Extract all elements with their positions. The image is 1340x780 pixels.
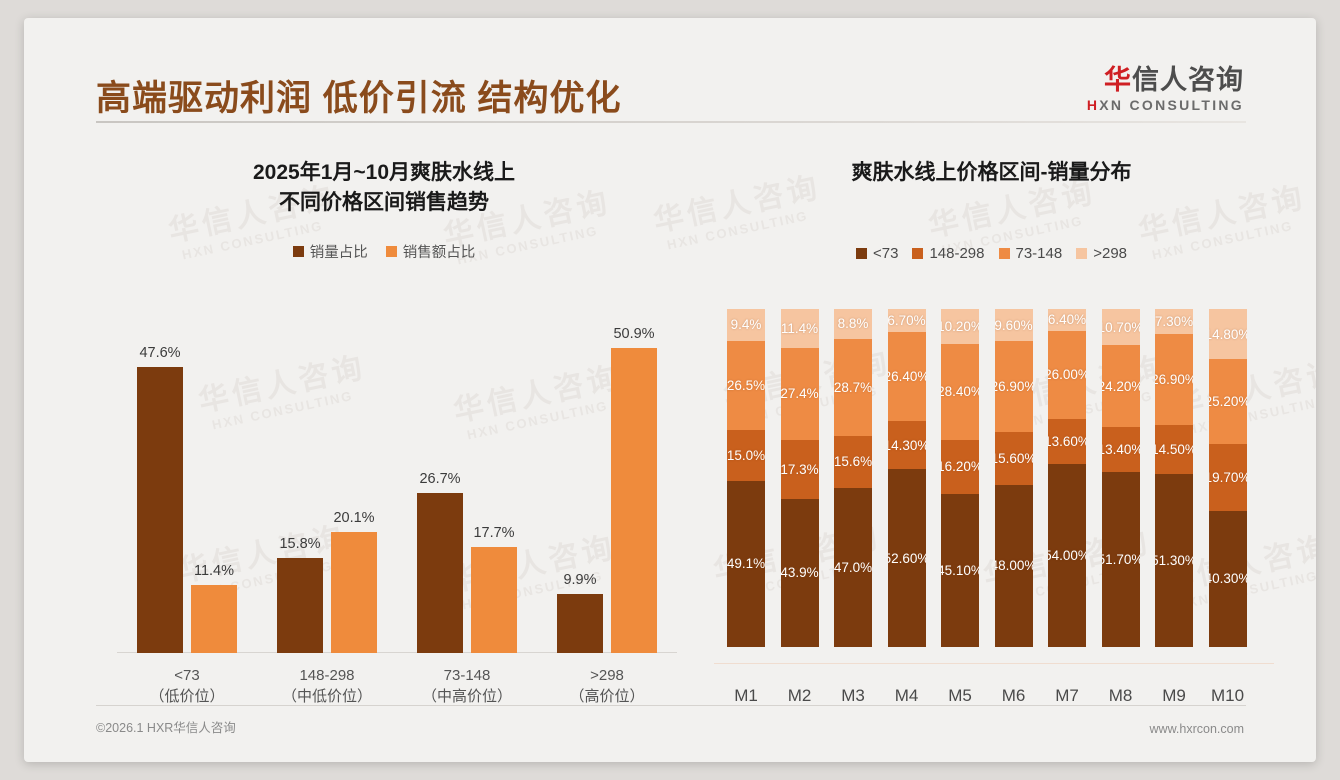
chart-title-line2: 不同价格区间销售趋势 bbox=[69, 188, 699, 218]
segment-value-label: 6.70% bbox=[888, 313, 926, 328]
segment-value-label: 43.9% bbox=[781, 565, 819, 580]
stacked-segment[interactable]: 26.40% bbox=[888, 332, 926, 421]
stacked-segment[interactable]: 40.30% bbox=[1209, 511, 1247, 647]
segment-value-label: 26.5% bbox=[727, 378, 765, 393]
stacked-bar[interactable]: 9.4%26.5%15.0%49.1% bbox=[727, 309, 765, 664]
bar-column[interactable]: 9.9% bbox=[557, 323, 603, 653]
legend-swatch-icon bbox=[999, 248, 1010, 259]
bar[interactable] bbox=[137, 367, 183, 653]
chart-legend-volume-distribution: <73148-29873-148>298 bbox=[704, 245, 1279, 262]
stacked-segment[interactable]: 51.70% bbox=[1102, 472, 1140, 647]
x-axis-tick-label: M1 bbox=[720, 686, 772, 706]
logo-chinese-text: 华信人咨询 bbox=[1087, 66, 1244, 94]
chart-panel-sales-trend: 2025年1月~10月爽肤水线上 不同价格区间销售趋势 销量占比销售额占比 47… bbox=[69, 138, 699, 698]
stacked-segment[interactable]: 47.0% bbox=[834, 488, 872, 647]
stacked-segment[interactable]: 17.3% bbox=[781, 440, 819, 498]
bar[interactable] bbox=[191, 585, 237, 653]
logo-char-h: H bbox=[1087, 97, 1099, 113]
bar[interactable] bbox=[471, 547, 517, 653]
segment-value-label: 28.40% bbox=[941, 384, 979, 399]
stacked-bar[interactable]: 10.70%24.20%13.40%51.70% bbox=[1102, 309, 1140, 664]
bar-value-label: 50.9% bbox=[613, 326, 654, 342]
bar-column[interactable]: 17.7% bbox=[471, 323, 517, 653]
segment-value-label: 9.60% bbox=[995, 318, 1033, 333]
stacked-bar-column[interactable]: 14.80%25.20%19.70%40.30% bbox=[1202, 309, 1254, 664]
segment-value-label: 14.80% bbox=[1209, 327, 1247, 342]
stacked-bar-column[interactable]: 9.4%26.5%15.0%49.1% bbox=[720, 309, 772, 664]
segment-value-label: 47.0% bbox=[834, 560, 872, 575]
legend-label: 销售额占比 bbox=[403, 241, 476, 262]
tick-label-main: >298 bbox=[590, 667, 624, 684]
stacked-segment[interactable]: 9.60% bbox=[995, 309, 1033, 341]
stacked-segment[interactable]: 28.7% bbox=[834, 339, 872, 436]
segment-value-label: 48.00% bbox=[995, 558, 1033, 573]
bar-column[interactable]: 50.9% bbox=[611, 323, 657, 653]
stacked-segment[interactable]: 26.5% bbox=[727, 341, 765, 431]
bar-column[interactable]: 15.8% bbox=[277, 323, 323, 653]
legend-label: <73 bbox=[873, 245, 898, 262]
bar-value-label: 26.7% bbox=[419, 471, 460, 487]
legend-label: 148-298 bbox=[929, 245, 984, 262]
stacked-bar[interactable]: 7.30%26.90%14.50%51.30% bbox=[1155, 309, 1193, 664]
segment-value-label: 27.4% bbox=[781, 386, 819, 401]
stacked-segment[interactable]: 10.70% bbox=[1102, 309, 1140, 345]
segment-value-label: 45.10% bbox=[941, 563, 979, 578]
stacked-bar[interactable]: 6.70%26.40%14.30%52.60% bbox=[888, 309, 926, 664]
legend-swatch-icon bbox=[1076, 248, 1087, 259]
stacked-segment[interactable]: 52.60% bbox=[888, 469, 926, 647]
stacked-segment[interactable]: 26.00% bbox=[1048, 331, 1086, 419]
footer-copyright: ©2026.1 HXR华信人咨询 bbox=[96, 717, 236, 736]
bar[interactable] bbox=[611, 348, 657, 653]
chart-title-volume-distribution: 爽肤水线上价格区间-销量分布 bbox=[704, 138, 1279, 188]
x-axis-tick-label: M8 bbox=[1095, 686, 1147, 706]
stacked-bar-column[interactable]: 10.20%28.40%16.20%45.10% bbox=[934, 309, 986, 664]
segment-value-label: 17.3% bbox=[781, 462, 819, 477]
stacked-segment[interactable]: 11.4% bbox=[781, 309, 819, 348]
stacked-segment[interactable]: 27.4% bbox=[781, 348, 819, 441]
stacked-bar-column[interactable]: 10.70%24.20%13.40%51.70% bbox=[1095, 309, 1147, 664]
stacked-segment[interactable]: 13.40% bbox=[1102, 427, 1140, 472]
segment-value-label: 52.60% bbox=[888, 551, 926, 566]
legend-item[interactable]: 148-298 bbox=[912, 245, 984, 262]
stacked-bar[interactable]: 6.40%26.00%13.60%54.00% bbox=[1048, 309, 1086, 664]
bar-value-label: 9.9% bbox=[563, 572, 596, 588]
chart-legend-sales-trend: 销量占比销售额占比 bbox=[69, 241, 699, 262]
stacked-bar-column[interactable]: 11.4%27.4%17.3%43.9% bbox=[774, 309, 826, 664]
segment-value-label: 15.0% bbox=[727, 448, 765, 463]
segment-value-label: 6.40% bbox=[1048, 312, 1086, 327]
stacked-segment[interactable]: 26.90% bbox=[995, 341, 1033, 432]
segment-value-label: 8.8% bbox=[838, 316, 869, 331]
bar-column[interactable]: 20.1% bbox=[331, 323, 377, 653]
segment-value-label: 40.30% bbox=[1209, 571, 1247, 586]
segment-value-label: 51.70% bbox=[1102, 552, 1140, 567]
segment-value-label: 11.4% bbox=[781, 321, 818, 336]
bar-group: 47.6%11.4% bbox=[117, 323, 257, 653]
stacked-segment[interactable]: 24.20% bbox=[1102, 345, 1140, 427]
bar-value-label: 11.4% bbox=[194, 563, 234, 579]
bar-group: 26.7%17.7% bbox=[397, 323, 537, 653]
x-axis-tick-label: M5 bbox=[934, 686, 986, 706]
segment-value-label: 54.00% bbox=[1048, 548, 1086, 563]
bar-column[interactable]: 47.6% bbox=[137, 323, 183, 653]
slide-header: 高端驱动利润 低价引流 结构优化 华信人咨询 HXN CONSULTING bbox=[24, 18, 1316, 118]
bar-group: 15.8%20.1% bbox=[257, 323, 397, 653]
footer-website: www.hxrcon.com bbox=[1150, 722, 1244, 736]
legend-item[interactable]: >298 bbox=[1076, 245, 1127, 262]
stacked-segment[interactable]: 14.50% bbox=[1155, 425, 1193, 474]
stacked-bar-column[interactable]: 6.70%26.40%14.30%52.60% bbox=[881, 309, 933, 664]
stacked-bar-column[interactable]: 9.60%26.90%15.60%48.00% bbox=[988, 309, 1040, 664]
stacked-segment[interactable]: 9.4% bbox=[727, 309, 765, 341]
stacked-segment[interactable]: 48.00% bbox=[995, 485, 1033, 647]
stacked-bar-column[interactable]: 8.8%28.7%15.6%47.0% bbox=[827, 309, 879, 664]
footer-divider bbox=[96, 705, 1246, 706]
legend-swatch-icon bbox=[856, 248, 867, 259]
legend-swatch-icon bbox=[386, 246, 397, 257]
tick-label-main: 73-148 bbox=[444, 667, 491, 684]
header-divider bbox=[96, 121, 1246, 123]
segment-value-label: 9.4% bbox=[731, 317, 762, 332]
x-axis-tick-label: M4 bbox=[881, 686, 933, 706]
x-axis-tick-label: M10 bbox=[1202, 686, 1254, 706]
logo-english-text: HXN CONSULTING bbox=[1087, 97, 1244, 113]
stacked-segment[interactable]: 43.9% bbox=[781, 499, 819, 647]
tick-label-main: <73 bbox=[174, 667, 199, 684]
bar[interactable] bbox=[557, 594, 603, 653]
grouped-bar-plot: 47.6%11.4%<73（低价位）15.8%20.1%148-298（中低价位… bbox=[117, 323, 677, 708]
x-axis-tick-label: M9 bbox=[1148, 686, 1200, 706]
stacked-segment[interactable]: 15.6% bbox=[834, 436, 872, 489]
stacked-segment[interactable]: 15.60% bbox=[995, 432, 1033, 485]
stacked-segment[interactable]: 45.10% bbox=[941, 494, 979, 647]
page-title: 高端驱动利润 低价引流 结构优化 bbox=[96, 70, 621, 121]
bar-group: 9.9%50.9% bbox=[537, 323, 677, 653]
stacked-segment[interactable]: 49.1% bbox=[727, 481, 765, 647]
stacked-bar-column[interactable]: 6.40%26.00%13.60%54.00% bbox=[1041, 309, 1093, 664]
bar-value-label: 15.8% bbox=[279, 536, 320, 552]
stacked-segment[interactable]: 26.90% bbox=[1155, 334, 1193, 425]
stacked-segment[interactable]: 13.60% bbox=[1048, 419, 1086, 465]
chart-panel-volume-distribution: 爽肤水线上价格区间-销量分布 <73148-29873-148>298 9.4%… bbox=[704, 138, 1279, 698]
company-logo: 华信人咨询 HXN CONSULTING bbox=[1087, 66, 1244, 113]
stacked-segment[interactable]: 7.30% bbox=[1155, 309, 1193, 334]
legend-label: 73-148 bbox=[1016, 245, 1063, 262]
stacked-bar-plot: 9.4%26.5%15.0%49.1%M111.4%27.4%17.3%43.9… bbox=[714, 306, 1274, 706]
bar-value-label: 17.7% bbox=[473, 525, 514, 541]
bar-column[interactable]: 11.4% bbox=[191, 323, 237, 653]
segment-value-label: 13.40% bbox=[1102, 442, 1140, 457]
segment-value-label: 13.60% bbox=[1048, 434, 1086, 449]
logo-chinese-rest: 信人咨询 bbox=[1132, 65, 1244, 95]
bar-value-label: 47.6% bbox=[139, 345, 180, 361]
stacked-segment[interactable]: 6.70% bbox=[888, 309, 926, 332]
stacked-segment[interactable]: 54.00% bbox=[1048, 464, 1086, 647]
stacked-segment[interactable]: 10.20% bbox=[941, 309, 979, 344]
logo-char-hua: 华 bbox=[1104, 65, 1132, 95]
legend-item[interactable]: 销量占比 bbox=[293, 241, 368, 262]
x-axis-tick-label: M2 bbox=[774, 686, 826, 706]
chart-title-sales-trend: 2025年1月~10月爽肤水线上 不同价格区间销售趋势 bbox=[69, 138, 699, 219]
bar[interactable] bbox=[417, 493, 463, 653]
stacked-segment[interactable]: 16.20% bbox=[941, 440, 979, 495]
segment-value-label: 14.50% bbox=[1155, 442, 1193, 457]
legend-swatch-icon bbox=[912, 248, 923, 259]
stacked-segment[interactable]: 25.20% bbox=[1209, 359, 1247, 444]
stacked-segment[interactable]: 14.30% bbox=[888, 421, 926, 469]
logo-english-rest: XN CONSULTING bbox=[1099, 97, 1244, 113]
x-axis-tick-label: M3 bbox=[827, 686, 879, 706]
stacked-bar[interactable]: 14.80%25.20%19.70%40.30% bbox=[1209, 309, 1247, 664]
x-axis-tick-label: M7 bbox=[1041, 686, 1093, 706]
segment-value-label: 25.20% bbox=[1209, 394, 1247, 409]
segment-value-label: 51.30% bbox=[1155, 553, 1193, 568]
legend-item[interactable]: 销售额占比 bbox=[386, 241, 476, 262]
x-axis-tick-label: M6 bbox=[988, 686, 1040, 706]
legend-item[interactable]: <73 bbox=[856, 245, 898, 262]
legend-label: >298 bbox=[1093, 245, 1127, 262]
segment-value-label: 10.70% bbox=[1102, 320, 1140, 335]
stacked-segment[interactable]: 15.0% bbox=[727, 430, 765, 481]
bar[interactable] bbox=[331, 532, 377, 653]
x-axis-tick-label: 148-298（中低价位） bbox=[257, 665, 397, 709]
segment-value-label: 24.20% bbox=[1102, 379, 1140, 394]
stacked-bar[interactable]: 8.8%28.7%15.6%47.0% bbox=[834, 309, 872, 664]
segment-value-label: 26.90% bbox=[995, 379, 1033, 394]
stacked-bar[interactable]: 10.20%28.40%16.20%45.10% bbox=[941, 309, 979, 664]
stacked-bar[interactable]: 9.60%26.90%15.60%48.00% bbox=[995, 309, 1033, 664]
segment-value-label: 10.20% bbox=[941, 319, 979, 334]
segment-value-label: 7.30% bbox=[1155, 314, 1193, 329]
slide-canvas: 高端驱动利润 低价引流 结构优化 华信人咨询 HXN CONSULTING 华信… bbox=[24, 18, 1316, 762]
legend-label: 销量占比 bbox=[310, 241, 368, 262]
x-axis-tick-label: <73（低价位） bbox=[117, 665, 257, 709]
bar-value-label: 20.1% bbox=[333, 510, 374, 526]
tick-label-main: 148-298 bbox=[299, 667, 354, 684]
chart-title-line1: 2025年1月~10月爽肤水线上 bbox=[69, 158, 699, 188]
stacked-segment[interactable]: 51.30% bbox=[1155, 474, 1193, 647]
stacked-segment[interactable]: 14.80% bbox=[1209, 309, 1247, 359]
segment-value-label: 19.70% bbox=[1209, 470, 1247, 485]
stacked-bar[interactable]: 11.4%27.4%17.3%43.9% bbox=[781, 309, 819, 664]
segment-value-label: 16.20% bbox=[941, 459, 979, 474]
stacked-segment[interactable]: 8.8% bbox=[834, 309, 872, 339]
legend-item[interactable]: 73-148 bbox=[999, 245, 1063, 262]
segment-value-label: 26.90% bbox=[1155, 372, 1193, 387]
stacked-segment[interactable]: 28.40% bbox=[941, 344, 979, 440]
segment-value-label: 15.6% bbox=[834, 454, 872, 469]
segment-value-label: 26.00% bbox=[1048, 367, 1086, 382]
segment-value-label: 14.30% bbox=[888, 438, 926, 453]
segment-value-label: 15.60% bbox=[995, 451, 1033, 466]
stacked-segment[interactable]: 19.70% bbox=[1209, 444, 1247, 511]
stacked-bar-column[interactable]: 7.30%26.90%14.50%51.30% bbox=[1148, 309, 1200, 664]
legend-swatch-icon bbox=[293, 246, 304, 257]
x-axis-tick-label: >298（高价位） bbox=[537, 665, 677, 709]
stacked-segment[interactable]: 6.40% bbox=[1048, 309, 1086, 331]
x-axis-tick-label: 73-148（中高价位） bbox=[397, 665, 537, 709]
segment-value-label: 28.7% bbox=[834, 380, 872, 395]
segment-value-label: 26.40% bbox=[888, 369, 926, 384]
bar[interactable] bbox=[277, 558, 323, 653]
segment-value-label: 49.1% bbox=[727, 556, 765, 571]
bar-column[interactable]: 26.7% bbox=[417, 323, 463, 653]
